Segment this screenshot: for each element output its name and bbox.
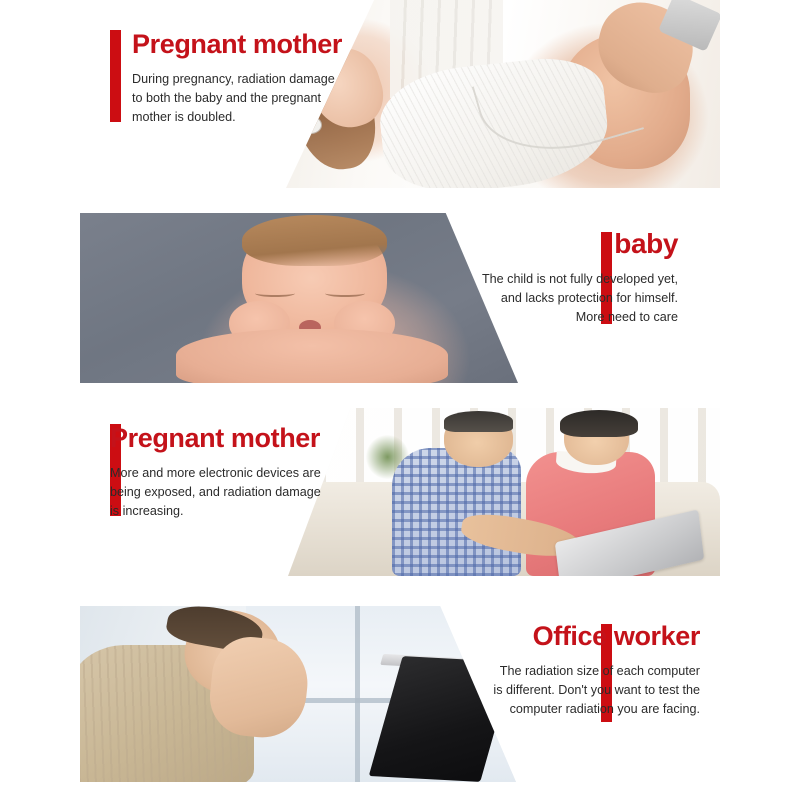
panel-4-body-line-1: The radiation size of each computer [500,664,700,678]
panel-2-body: The child is not fully developed yet, an… [450,270,700,327]
man-plaid-shirt [392,448,522,576]
panel-2-body-line-3: More need to care [576,310,678,324]
baby-eye-left [255,290,294,297]
photo-elderly-couple [288,408,720,576]
panel-1-headline: Pregnant mother [110,28,340,60]
photo-elderly-couple-image [288,408,720,576]
man-hair [444,411,513,431]
panel-4-body-line-2: is different. Don't you want to test the [493,683,700,697]
panel-3-body: More and more electronic devices are bei… [110,464,345,521]
panel-2-body-line-1: The child is not fully developed yet, [482,272,678,286]
baby-hair [242,215,387,266]
photo-pregnant-mother-1-image [286,0,720,188]
panel-3-body-line-1: More and more electronic devices are [110,466,321,480]
panel-3-body-line-2: being exposed, and radiation damage [110,485,321,499]
panel-3-body-line-3: is increasing. [110,504,184,518]
woman-hair [560,410,638,437]
panel-1-body-line-3: mother is doubled. [132,110,236,124]
panel-1-body: During pregnancy, radiation damage to bo… [110,70,340,127]
baby-eye-right [325,290,364,297]
panel-4-headline: Office worker [435,620,700,652]
panel-2-body-line-2: and lacks protection for himself. [501,291,678,305]
panel-4-body-line-3: computer radiation you are facing. [510,702,700,716]
panel-1-body-line-1: During pregnancy, radiation damage [132,72,335,86]
panel-2-text-block: baby The child is not fully developed ye… [450,228,700,327]
panel-1-text-block: Pregnant mother During pregnancy, radiat… [110,28,340,127]
panel-3-headline: Pregnant mother [110,422,345,454]
panel-1-body-line-2: to both the baby and the pregnant [132,91,321,105]
panel-3-text-block: Pregnant mother More and more electronic… [110,422,345,521]
panel-pregnant-mother-1: Pregnant mother During pregnancy, radiat… [0,0,800,196]
panel-4-text-block: Office worker The radiation size of each… [435,620,700,719]
panel-4-body: The radiation size of each computer is d… [435,662,700,719]
panel-2-headline: baby [450,228,700,260]
panel-baby: baby The child is not fully developed ye… [0,196,800,392]
panel-pregnant-mother-2: Pregnant mother More and more electronic… [0,392,800,592]
baby-hands [176,329,448,383]
panel-office-worker: Office worker The radiation size of each… [0,592,800,800]
photo-pregnant-mother-1 [286,0,720,188]
infographic-page: Pregnant mother During pregnancy, radiat… [0,0,800,800]
window-mullion-vertical [355,606,360,782]
